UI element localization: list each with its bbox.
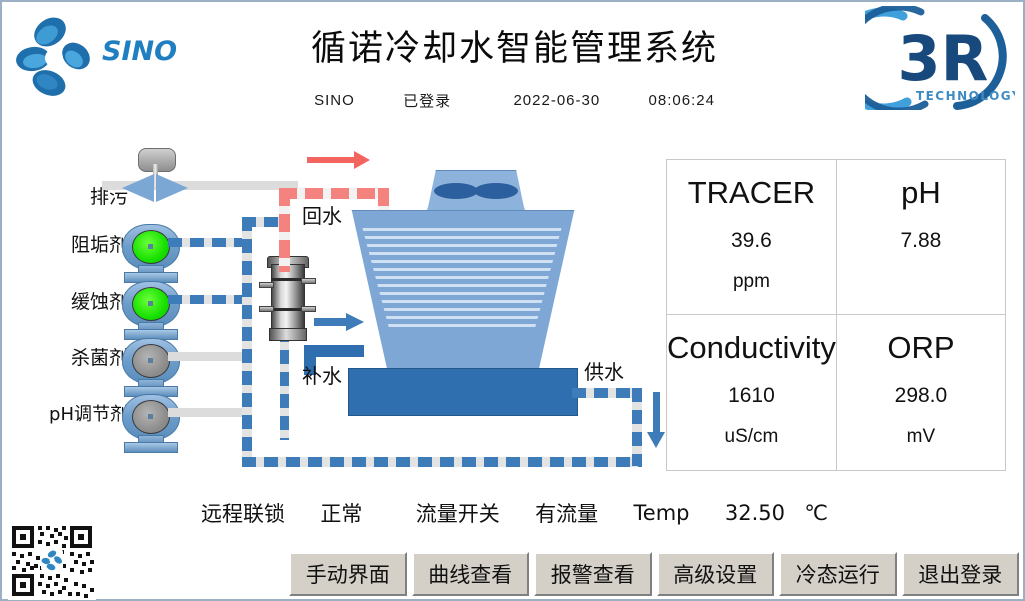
bottom-button-bar: 手动界面 曲线查看 报警查看 高级设置 冷态运行 退出登录 (289, 552, 1019, 596)
readout-orp: ORP 298.0 mV (837, 315, 1005, 470)
pump-base (124, 442, 178, 453)
supply-water-pipe-vertical (632, 388, 642, 466)
readout-tracer: TRACER 39.6 ppm (667, 160, 837, 315)
recirculation-bottom-pipe (242, 457, 642, 467)
dosing-pump-corrosion-inhibitor[interactable] (120, 281, 182, 337)
supply-flow-arrow-head (647, 432, 665, 448)
readout-name: ORP (887, 329, 954, 368)
system-status-row: 远程联锁 正常 流量开关 有流量 Temp 32.50 ℃ (2, 498, 1025, 528)
analyzer-nozzle (259, 306, 274, 312)
dosing-pump-biocide[interactable] (120, 338, 182, 394)
dosing-pump-ph-adjuster[interactable] (120, 394, 182, 450)
pump-status-lamp (132, 344, 170, 378)
pipe-label-supply-water: 供水 (584, 356, 624, 385)
device-label-scale-inhibitor: 阻垢剂 (10, 230, 128, 257)
pipe-label-return-water: 回水 (302, 200, 342, 229)
readout-value: 39.6 (731, 229, 772, 253)
dosing-pump-scale-inhibitor[interactable] (120, 224, 182, 280)
supply-flow-arrow-shaft (653, 392, 660, 434)
device-label-ph-adjuster: pH调节剂 (4, 400, 128, 426)
dosing-line-scale-inhibitor (168, 238, 250, 247)
recirculation-riser-pipe (242, 217, 252, 465)
alarm-view-button[interactable]: 报警查看 (534, 552, 652, 596)
trend-view-button[interactable]: 曲线查看 (412, 552, 530, 596)
analyzer-nozzle (301, 278, 316, 284)
readout-ph: pH 7.88 (837, 160, 1005, 315)
readout-name: pH (901, 174, 941, 213)
cooling-tower-basin (348, 368, 578, 416)
dosing-line-ph-adjuster (168, 408, 250, 417)
readout-value: 298.0 (895, 384, 948, 408)
readout-name: TRACER (688, 174, 815, 213)
device-label-biocide: 杀菌剂 (10, 343, 128, 370)
readout-unit: mV (907, 426, 936, 448)
pump-status-lamp (132, 400, 170, 434)
current-date: 2022-06-30 (513, 92, 600, 109)
fan-blade-icon (474, 183, 518, 199)
pump-status-lamp (132, 230, 170, 264)
readout-unit: ppm (733, 271, 770, 293)
remote-interlock-label: 远程联锁 (201, 498, 285, 528)
readout-name: Conductivity (667, 329, 836, 368)
cooling-tower-fan-stack (427, 170, 525, 212)
manual-interface-button[interactable]: 手动界面 (289, 552, 407, 596)
flow-switch-label: 流量开关 (416, 498, 500, 528)
analyzer-nozzle (259, 282, 274, 288)
makeup-flow-arrow-head (346, 313, 364, 331)
logout-button[interactable]: 退出登录 (902, 552, 1020, 596)
pipe-label-makeup-water: 补水 (302, 360, 342, 389)
blowdown-valve[interactable] (120, 148, 192, 200)
dosing-line-biocide (168, 352, 250, 361)
advanced-settings-button[interactable]: 高级设置 (657, 552, 775, 596)
flow-switch-value: 有流量 (535, 498, 598, 528)
analyzer-band (271, 278, 303, 281)
hmi-screen: SINO 3R TECHNOLOGY 循诺冷却水智能管理系统 SINO 已登录 … (0, 0, 1025, 601)
qr-code[interactable] (8, 522, 96, 600)
readout-value: 7.88 (900, 229, 941, 253)
valve-body-left (122, 174, 154, 202)
login-status: 已登录 (403, 90, 451, 111)
qr-center-logo (41, 549, 63, 571)
device-label-corrosion-inhibitor: 缓蚀剂 (10, 287, 128, 314)
readout-unit: uS/cm (725, 426, 779, 448)
temp-label: Temp (634, 501, 690, 525)
current-user: SINO (314, 92, 355, 109)
analyzer-base (269, 328, 307, 341)
analyzer-shell (271, 264, 305, 330)
return-water-down-pipe (279, 188, 290, 272)
readout-conductivity: Conductivity 1610 uS/cm (667, 315, 837, 470)
remote-interlock-value: 正常 (320, 498, 362, 528)
sino-pinwheel-icon (41, 549, 63, 571)
cooling-tower (342, 170, 582, 422)
makeup-flow-arrow-shaft (314, 318, 348, 326)
analyzer-band (271, 308, 303, 311)
temp-unit: ℃ (804, 501, 828, 525)
return-flow-arrow-head (354, 151, 370, 169)
page-title: 循诺冷却水智能管理系统 (2, 20, 1025, 71)
temp-value: 32.50 (725, 501, 785, 525)
valve-body-right (156, 174, 188, 202)
pump-status-lamp (132, 287, 170, 321)
water-quality-readout-panel: TRACER 39.6 ppm pH 7.88 Conductivity 161… (666, 159, 1006, 471)
analyzer-nozzle (301, 306, 316, 312)
header-status-bar: SINO 已登录 2022-06-30 08:06:24 (2, 90, 1025, 111)
current-time: 08:06:24 (649, 92, 715, 109)
fan-blade-icon (434, 183, 478, 199)
readout-value: 1610 (728, 384, 775, 408)
cold-start-run-button[interactable]: 冷态运行 (779, 552, 897, 596)
dosing-line-corrosion-inhibitor (168, 295, 250, 304)
return-flow-arrow-shaft (307, 157, 355, 163)
analyzer-outlet-pipe (280, 328, 289, 440)
